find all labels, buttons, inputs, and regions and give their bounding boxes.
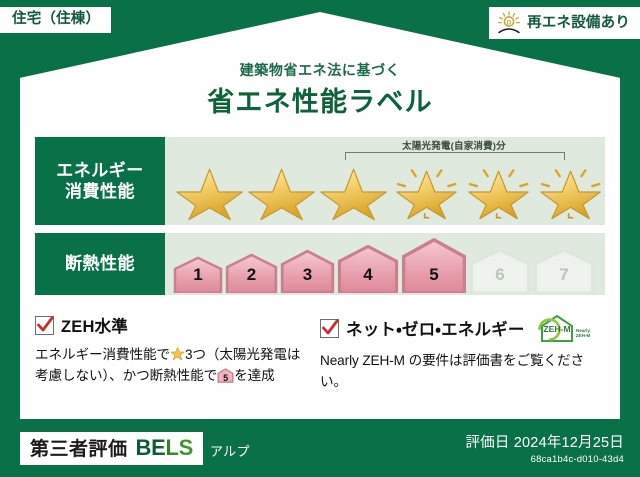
claim-zeh-body-part3: を達成 <box>234 368 274 383</box>
company-name: アルプ <box>210 441 250 460</box>
insulation-level-value: 7 <box>559 265 568 293</box>
star-icon-solar <box>464 162 533 222</box>
insulation-label-box: 断熱性能 <box>35 233 165 295</box>
star-rating <box>165 162 605 222</box>
claim-zeh-body: エネルギー消費性能で 3つ（太陽光発電は考慮しない）、かつ断熱性能で 5を達成 <box>35 344 308 386</box>
claim-zeh-header: ZEH水準 <box>35 313 308 337</box>
insulation-level-value: 4 <box>363 265 372 293</box>
checkbox-checked-icon <box>35 316 54 335</box>
star-icon <box>175 162 244 222</box>
insulation-level-1: 1 <box>173 256 223 293</box>
insulation-scale: 1 2 3 4 <box>173 237 597 293</box>
energy-performance-row: エネルギー 消費性能 太陽光発電(自家消費)分 <box>35 137 605 225</box>
claims-section: ZEH水準 エネルギー消費性能で 3つ（太陽光発電は考慮しない）、かつ断熱性能で… <box>35 313 605 392</box>
checkbox-checked-icon <box>320 319 339 338</box>
insulation-level-6: 6 <box>469 248 531 293</box>
evaluation-id: 68ca1b4c-d010-43d4 <box>465 454 624 465</box>
insulation-rating-panel: 1 2 3 4 <box>165 233 605 295</box>
energy-performance-label: 住宅（住棟） D 再エネ設備あり 建築物省エネ法に基づく 省エネ性 <box>0 0 640 477</box>
star-icon-solar <box>536 162 605 222</box>
claim-net-zero-energy: ネット・ゼロ・エネルギー ZEH-M Nearly ZEH-M Nearly Z… <box>320 313 605 392</box>
insulation-label: 断熱性能 <box>65 253 135 274</box>
energy-performance-label-box: エネルギー 消費性能 <box>35 137 165 225</box>
claim-nze-body: Nearly ZEH-M の要件は評価書をご覧ください。 <box>320 350 593 392</box>
bels-logo-text: BELS <box>136 437 193 459</box>
claim-nze-title: ネット・ゼロ・エネルギー <box>346 316 525 340</box>
insulation-level-value: 1 <box>193 265 202 293</box>
energy-rating-panel: 太陽光発電(自家消費)分 <box>165 137 605 225</box>
insulation-level-value: 3 <box>303 265 312 293</box>
insulation-level-value: 6 <box>495 265 504 293</box>
label-title: 省エネ性能ラベル <box>0 80 640 119</box>
sun-icon: D <box>496 11 522 35</box>
energy-label-line2: 消費性能 <box>65 181 135 202</box>
claim-zeh-standard: ZEH水準 エネルギー消費性能で 3つ（太陽光発電は考慮しない）、かつ断熱性能で… <box>35 313 320 392</box>
renewable-energy-badge: D 再エネ設備あり <box>489 7 640 39</box>
evaluation-info: 評価日 2024年12月25日 68ca1b4c-d010-43d4 <box>465 431 624 465</box>
solar-annotation-text: 太陽光発電(自家消費)分 <box>343 138 565 152</box>
star-icon-inline <box>170 346 185 361</box>
insulation-level-value: 2 <box>247 265 256 293</box>
insulation-level-3: 3 <box>280 249 335 293</box>
claim-zeh-body-part1: エネルギー消費性能で <box>35 347 170 362</box>
zeh-m-logo-icon: ZEH-M Nearly ZEH-M <box>536 313 592 343</box>
claim-nze-header: ネット・ゼロ・エネルギー ZEH-M Nearly ZEH-M <box>320 313 593 343</box>
star-icon <box>319 162 388 222</box>
svg-text:ZEH-M: ZEH-M <box>575 333 590 338</box>
renewable-badge-label: 再エネ設備あり <box>527 16 630 31</box>
house-badge-value: 5 <box>217 374 234 383</box>
insulation-performance-row: 断熱性能 1 <box>35 233 605 295</box>
evaluation-date: 評価日 2024年12月25日 <box>465 431 624 452</box>
bels-certification-badge: 第三者評価 BELS <box>20 432 203 465</box>
insulation-level-value: 5 <box>429 265 438 293</box>
third-party-eval-label: 第三者評価 <box>30 440 128 459</box>
building-type-tag: 住宅（住棟） <box>0 7 111 33</box>
insulation-level-2: 2 <box>225 253 278 293</box>
star-icon-solar <box>392 162 461 222</box>
insulation-level-7: 7 <box>533 248 595 293</box>
claim-zeh-title: ZEH水準 <box>61 313 128 337</box>
energy-label-line1: エネルギー <box>56 160 144 181</box>
svg-text:ZEH-M: ZEH-M <box>543 324 570 334</box>
svg-text:D: D <box>507 20 512 27</box>
insulation-level-4: 4 <box>337 244 399 293</box>
star-icon <box>247 162 316 222</box>
insulation-level-5: 5 <box>401 237 467 293</box>
house-badge-icon-inline: 5 <box>217 368 234 383</box>
label-subtitle: 建築物省エネ法に基づく <box>0 60 640 80</box>
solar-annotation-bracket <box>345 152 565 160</box>
